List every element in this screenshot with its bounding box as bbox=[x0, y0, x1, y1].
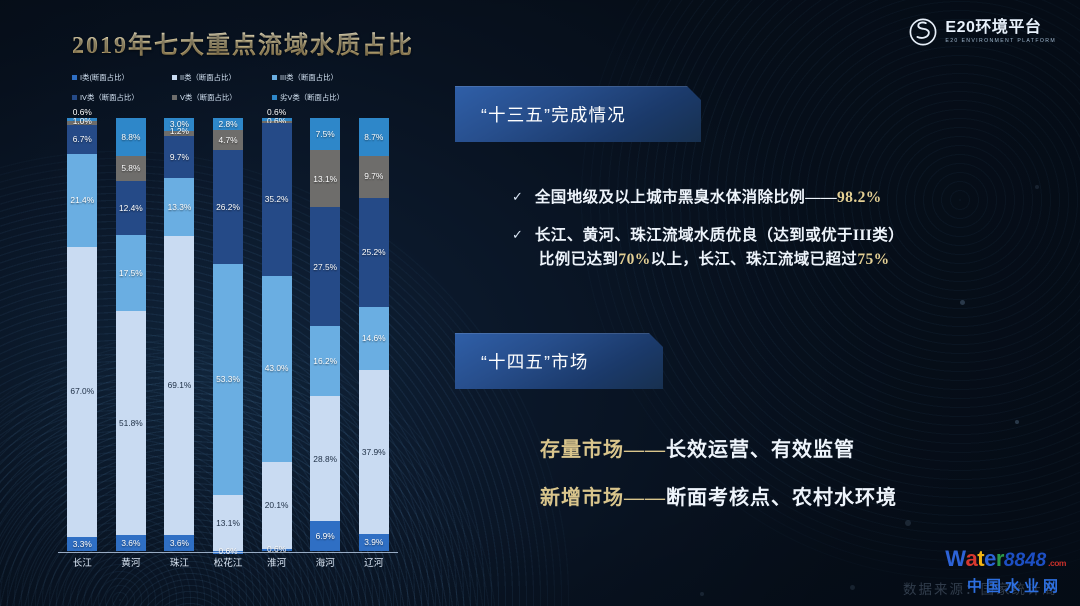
chart-bar-segment: 6.9% bbox=[310, 521, 340, 551]
market-rest: 长效运营、有效监管 bbox=[666, 439, 855, 461]
check-icon: ✓ bbox=[512, 224, 523, 272]
chart-bar-segment: 67.0% bbox=[67, 247, 97, 537]
watermark-cn: 中国水业网 bbox=[967, 575, 1062, 596]
chart-value-label: 3.9% bbox=[364, 538, 383, 546]
chart-bar-segment: 25.2% bbox=[359, 198, 389, 307]
chart-value-label: 1.0% bbox=[73, 117, 92, 125]
legend-label: III类（断面占比） bbox=[280, 72, 338, 83]
x-axis-tick-label: 珠江 bbox=[155, 555, 204, 569]
chart-bar: 7.5%13.1%27.5%16.2%28.8%6.9% bbox=[310, 118, 340, 551]
bullet-highlight-75: 75% bbox=[857, 251, 889, 268]
chart-value-label: 28.8% bbox=[313, 455, 337, 463]
chart-bar-segment: 13.1% bbox=[310, 150, 340, 207]
bullet-highlight-70: 70% bbox=[618, 251, 650, 268]
chart-bar-segment: 35.2% bbox=[262, 123, 292, 275]
legend-label: 劣V类（断面占比） bbox=[280, 92, 344, 103]
legend-swatch-icon bbox=[72, 75, 77, 80]
legend-swatch-icon bbox=[72, 95, 77, 100]
chart-bar-segment: 20.1% bbox=[262, 462, 292, 549]
chart-value-label: 26.2% bbox=[216, 203, 240, 211]
chart-value-label: 13.1% bbox=[216, 519, 240, 527]
decor-dot bbox=[1035, 185, 1039, 189]
decor-dot bbox=[1015, 420, 1019, 424]
legend-swatch-icon bbox=[172, 95, 177, 100]
chart-bar-segment: 69.1% bbox=[164, 236, 194, 535]
watermark-tld: .com bbox=[1048, 558, 1066, 568]
chart-bar-segment: 27.5% bbox=[310, 207, 340, 326]
legend-item[interactable]: III类（断面占比） bbox=[272, 72, 372, 83]
chart-bar-segment: 53.3% bbox=[213, 264, 243, 495]
chart-value-label: 16.2% bbox=[313, 357, 337, 365]
bullet-text-line2: 比例已达到70%以上，长江、珠江流域已超过75% bbox=[539, 248, 904, 272]
chart-bar-column[interactable]: 8.7%9.7%25.2%14.6%37.9%3.9% bbox=[349, 118, 398, 551]
x-axis-line bbox=[58, 552, 398, 554]
chart-bar-segment: 3.6% bbox=[164, 535, 194, 551]
chart-bar-segment: 12.4% bbox=[116, 181, 146, 235]
chart-bar-segment: 43.0% bbox=[262, 276, 292, 462]
x-axis-tick-label: 海河 bbox=[301, 555, 350, 569]
x-axis-tick-label: 黄河 bbox=[107, 555, 156, 569]
slide-canvas: E20环境平台 E20 ENVIRONMENT PLATFORM 2019年七大… bbox=[0, 0, 1080, 606]
chart-bar-column[interactable]: 7.5%13.1%27.5%16.2%28.8%6.9% bbox=[301, 118, 350, 551]
market-rest: 断面考核点、农村水环境 bbox=[666, 487, 897, 509]
check-icon: ✓ bbox=[512, 186, 523, 210]
chart-legend: I类(断面占比）II类（断面占比）III类（断面占比）IV类（断面占比）V类（断… bbox=[72, 72, 372, 103]
decor-dot bbox=[850, 585, 855, 590]
section-tag-1355: “十三五”完成情况 bbox=[455, 86, 701, 142]
chart-bar-segment: 6.7% bbox=[67, 125, 97, 154]
chart-value-label: 35.2% bbox=[265, 195, 289, 203]
watermark-letter: t bbox=[977, 546, 984, 572]
chart-value-label: 8.7% bbox=[364, 133, 383, 141]
chart-bar-segment: 3.6% bbox=[116, 535, 146, 551]
chart-bar-segment: 8.7% bbox=[359, 118, 389, 156]
legend-swatch-icon bbox=[172, 75, 177, 80]
chart-bar: 0.6%0.6%35.2%43.0%20.1%0.6% bbox=[262, 118, 292, 551]
chart-value-label: 20.1% bbox=[265, 501, 289, 509]
chart-bar-segment: 37.9% bbox=[359, 370, 389, 534]
e20-swirl-icon bbox=[909, 18, 937, 46]
chart-bar-segment: 13.3% bbox=[164, 178, 194, 236]
chart-value-label: 25.2% bbox=[362, 248, 386, 256]
chart-value-label: 37.9% bbox=[362, 448, 386, 456]
chart-value-label: 9.7% bbox=[170, 153, 189, 161]
chart-value-label: 14.6% bbox=[362, 334, 386, 342]
legend-label: I类(断面占比） bbox=[80, 72, 129, 83]
chart-value-label: 53.3% bbox=[216, 375, 240, 383]
chart-bar-segment: 3.9% bbox=[359, 534, 389, 551]
legend-item[interactable]: I类(断面占比） bbox=[72, 72, 172, 83]
chart-value-label: 3.6% bbox=[170, 539, 189, 547]
chart-bar-segment: 13.1% bbox=[213, 495, 243, 552]
logo-name: E20环境平台 bbox=[945, 20, 1056, 36]
x-axis-tick-label: 淮河 bbox=[252, 555, 301, 569]
bullet-text-plain: 全国地级及以上城市黑臭水体消除比例—— bbox=[535, 189, 837, 206]
legend-item[interactable]: IV类（断面占比） bbox=[72, 92, 172, 103]
chart-bar-segment: 5.8% bbox=[116, 156, 146, 181]
legend-swatch-icon bbox=[272, 95, 277, 100]
chart-bar-segment: 4.7% bbox=[213, 130, 243, 150]
x-axis-tick-label: 长江 bbox=[58, 555, 107, 569]
bullet-text: 长江、黄河、珠江流域水质优良（达到或优于III类） 比例已达到70%以上，长江、… bbox=[535, 224, 904, 272]
legend-label: IV类（断面占比） bbox=[80, 92, 139, 103]
bullet-item: ✓ 全国地级及以上城市黑臭水体消除比例——98.2% bbox=[512, 186, 1032, 210]
decor-dot bbox=[960, 300, 965, 305]
chart-bar-segment: 26.2% bbox=[213, 150, 243, 263]
chart-value-label: 6.9% bbox=[316, 532, 335, 540]
watermark-letter: a bbox=[965, 546, 977, 572]
chart-bar: 2.8%4.7%26.2%53.3%13.1%0.6% bbox=[213, 118, 243, 551]
brand-logo: E20环境平台 E20 ENVIRONMENT PLATFORM bbox=[909, 18, 1056, 46]
section-tag-1445: “十四五”市场 bbox=[455, 333, 663, 389]
chart-value-label: 13.3% bbox=[168, 203, 192, 211]
chart-bar-segment: 21.4% bbox=[67, 154, 97, 247]
watermark-letter: e bbox=[984, 546, 996, 572]
chart-value-label: 4.7% bbox=[218, 136, 237, 144]
page-title: 2019年七大重点流域水质占比 bbox=[72, 25, 414, 60]
chart-value-label: 3.6% bbox=[121, 539, 140, 547]
chart-value-label: 21.4% bbox=[70, 196, 94, 204]
legend-label: II类（断面占比） bbox=[180, 72, 236, 83]
bullet-line2-b: 以上，长江、珠江流域已超过 bbox=[651, 251, 858, 268]
bullet-text: 全国地级及以上城市黑臭水体消除比例——98.2% bbox=[535, 186, 882, 210]
x-axis-tick-label: 松花江 bbox=[204, 555, 253, 569]
market-key: 新增市场 bbox=[540, 487, 624, 509]
bullet-list-1355: ✓ 全国地级及以上城市黑臭水体消除比例——98.2% ✓ 长江、黄河、珠江流域水… bbox=[512, 186, 1032, 286]
chart-bar-column[interactable]: 0.6%0.6%35.2%43.0%20.1%0.6% bbox=[252, 118, 301, 551]
watermark-number: 8848 bbox=[1004, 550, 1046, 572]
chart-value-label: 13.1% bbox=[313, 175, 337, 183]
chart-value-label: 3.3% bbox=[73, 540, 92, 548]
chart-value-label: 17.5% bbox=[119, 269, 143, 277]
x-axis-labels: 长江黄河珠江松花江淮河海河辽河 bbox=[58, 555, 398, 569]
chart-bar-segment: 3.3% bbox=[67, 537, 97, 551]
chart-bar-segment: 14.6% bbox=[359, 307, 389, 370]
bullet-highlight: 98.2% bbox=[837, 189, 882, 206]
chart-value-label: 9.7% bbox=[364, 172, 383, 180]
chart-value-label: 5.8% bbox=[121, 164, 140, 172]
chart-value-label: 7.5% bbox=[316, 130, 335, 138]
chart-bar-column[interactable]: 8.8%5.8%12.4%17.5%51.8%3.6% bbox=[107, 118, 156, 551]
chart-value-label: 1.2% bbox=[170, 127, 189, 135]
watermark-letter: W bbox=[945, 546, 965, 572]
chart-value-label: 51.8% bbox=[119, 419, 143, 427]
x-axis-tick-label: 辽河 bbox=[349, 555, 398, 569]
watermark-brand: Water8848.com bbox=[945, 546, 1066, 572]
legend-item[interactable]: 劣V类（断面占比） bbox=[272, 92, 372, 103]
watermark-letter: r bbox=[996, 546, 1004, 572]
market-line: 新增市场——断面考核点、农村水环境 bbox=[540, 488, 897, 508]
chart-value-label: 12.4% bbox=[119, 204, 143, 212]
legend-item[interactable]: V类（断面占比） bbox=[172, 92, 272, 103]
legend-item[interactable]: II类（断面占比） bbox=[172, 72, 272, 83]
market-dash: —— bbox=[624, 439, 666, 461]
legend-label: V类（断面占比） bbox=[180, 92, 237, 103]
decor-dot bbox=[700, 592, 704, 596]
chart-bar-segment: 9.7% bbox=[164, 136, 194, 178]
chart-bar-segment: 8.8% bbox=[116, 118, 146, 156]
chart-bar-column[interactable]: 0.6%1.0%6.7%21.4%67.0%3.3% bbox=[58, 118, 107, 551]
chart-bar-segment: 9.7% bbox=[359, 156, 389, 198]
chart-bar-segment: 16.2% bbox=[310, 326, 340, 396]
chart-bar-column[interactable]: 3.0%1.2%9.7%13.3%69.1%3.6% bbox=[155, 118, 204, 551]
chart-value-label: 2.8% bbox=[218, 120, 237, 128]
chart-bar: 3.0%1.2%9.7%13.3%69.1%3.6% bbox=[164, 118, 194, 551]
legend-swatch-icon bbox=[272, 75, 277, 80]
chart-bar: 8.7%9.7%25.2%14.6%37.9%3.9% bbox=[359, 118, 389, 551]
chart-bar-segment: 2.8% bbox=[213, 118, 243, 130]
bullet-line2-a: 比例已达到 bbox=[539, 251, 619, 268]
market-dash: —— bbox=[624, 487, 666, 509]
chart-value-label: 69.1% bbox=[168, 381, 192, 389]
chart-bar-segment: 7.5% bbox=[310, 118, 340, 150]
market-line: 存量市场——长效运营、有效监管 bbox=[540, 440, 897, 460]
market-list-1445: 存量市场——长效运营、有效监管 新增市场——断面考核点、农村水环境 bbox=[540, 440, 897, 536]
chart-bars: 0.6%1.0%6.7%21.4%67.0%3.3%8.8%5.8%12.4%1… bbox=[58, 118, 398, 551]
decor-dot bbox=[905, 520, 911, 526]
chart-bar-column[interactable]: 2.8%4.7%26.2%53.3%13.1%0.6% bbox=[204, 118, 253, 551]
chart-value-label: 27.5% bbox=[313, 263, 337, 271]
chart-value-label: 43.0% bbox=[265, 364, 289, 372]
chart-bar-segment: 28.8% bbox=[310, 396, 340, 521]
chart-bar: 0.6%1.0%6.7%21.4%67.0%3.3% bbox=[67, 118, 97, 551]
market-key: 存量市场 bbox=[540, 439, 624, 461]
stacked-bar-chart: 0.6%1.0%6.7%21.4%67.0%3.3%8.8%5.8%12.4%1… bbox=[58, 118, 398, 553]
chart-value-label: 6.7% bbox=[73, 135, 92, 143]
chart-bar: 8.8%5.8%12.4%17.5%51.8%3.6% bbox=[116, 118, 146, 551]
chart-value-label: 8.8% bbox=[121, 133, 140, 141]
chart-value-label: 67.0% bbox=[70, 387, 94, 395]
chart-bar-segment: 17.5% bbox=[116, 235, 146, 311]
chart-bar-segment: 51.8% bbox=[116, 311, 146, 535]
bullet-item: ✓ 长江、黄河、珠江流域水质优良（达到或优于III类） 比例已达到70%以上，长… bbox=[512, 224, 1032, 272]
logo-tagline: E20 ENVIRONMENT PLATFORM bbox=[945, 39, 1056, 44]
bullet-text-plain: 长江、黄河、珠江流域水质优良（达到或优于III类） bbox=[535, 227, 904, 244]
